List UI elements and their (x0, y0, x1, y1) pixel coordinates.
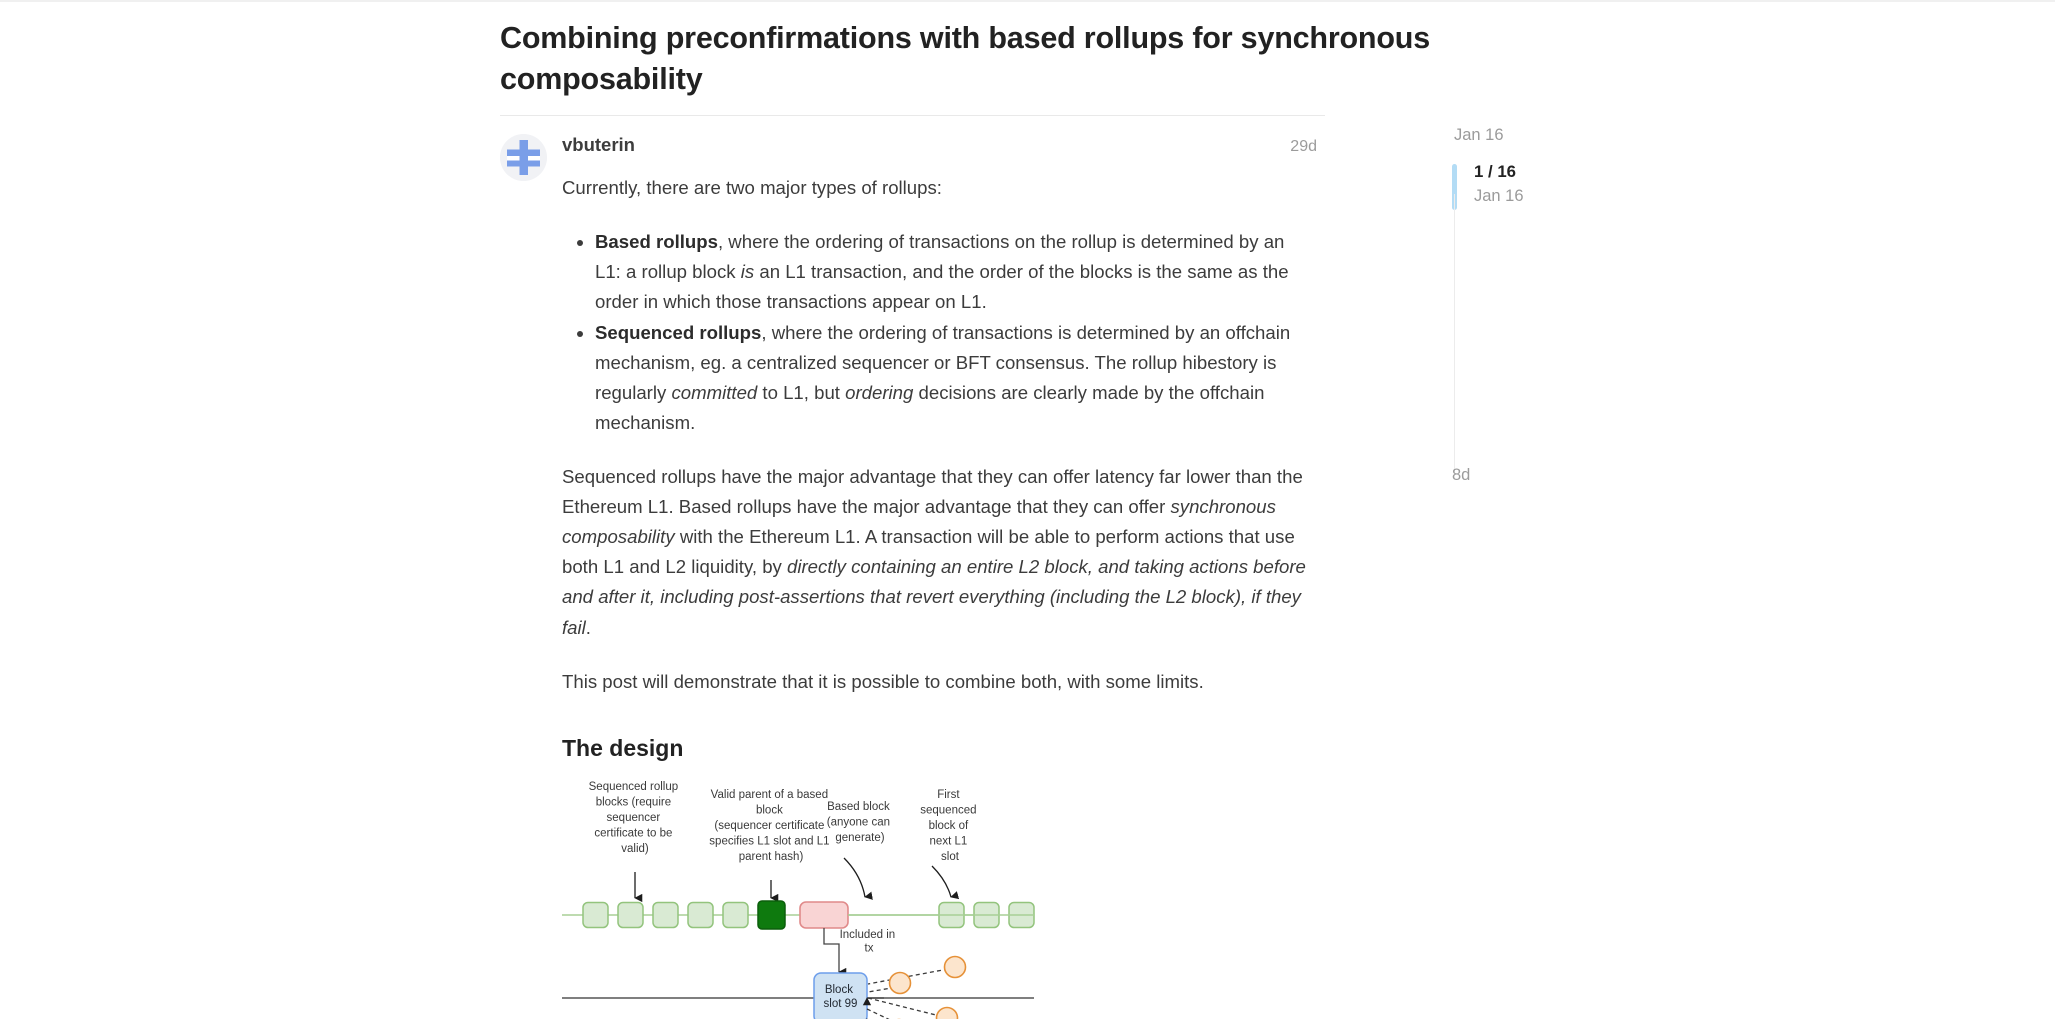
bullet-emphasis: committed (671, 382, 757, 403)
timeline-post-count: 1 / 16 (1474, 162, 1622, 182)
paragraph-text: . (586, 617, 591, 638)
diagram-arrow-included-in-tx (824, 928, 839, 972)
chain-block-dark-green[interactable] (758, 901, 785, 929)
diagram-label-based-block: Based block (anyone can generate) (827, 801, 894, 844)
diagram-arrow-based-block (844, 858, 865, 897)
timeline-current[interactable]: 1 / 16 Jan 16 (1452, 162, 1622, 206)
post: vbuterin 29d Currently, there are two ma… (500, 116, 1330, 1019)
bullet-emphasis: is (741, 261, 754, 282)
avatar[interactable] (500, 134, 547, 181)
post-timestamp[interactable]: 29d (1290, 138, 1317, 156)
chain-block-light-green[interactable] (618, 902, 643, 927)
diagram-arrow-first-sequenced (932, 866, 951, 897)
diagram-label-valid-parent: Valid parent of a based block (sequencer… (709, 789, 832, 863)
list-item: Sequenced rollups, where the ordering of… (595, 318, 1292, 438)
topic-timeline[interactable]: Jan 16 1 / 16 Jan 16 8d (1452, 126, 1622, 521)
intro-paragraph: Currently, there are two major types of … (562, 173, 1307, 203)
timeline-current-date: Jan 16 (1474, 187, 1622, 206)
bullet-lead: Based rollups (595, 231, 718, 252)
chain-block-light-green[interactable] (583, 902, 608, 927)
page-title: Combining preconfirmations with based ro… (500, 18, 1445, 99)
paragraph-advantages: Sequenced rollups have the major advanta… (562, 462, 1322, 643)
rollup-types-list: Based rollups, where the ordering of tra… (562, 227, 1292, 438)
attestation-circle[interactable] (937, 1007, 958, 1019)
post-meta: vbuterin 29d (562, 134, 1317, 156)
list-item: Based rollups, where the ordering of tra… (595, 227, 1292, 317)
topic-page: Combining preconfirmations with based ro… (0, 0, 2055, 1019)
diagram-block-slot-box[interactable] (814, 973, 867, 1019)
section-heading-the-design: The design (562, 735, 1330, 762)
diagram-label-sequenced-rollup-blocks: Sequenced rollup blocks (require sequenc… (589, 781, 682, 855)
timeline-bottom-date: 8d (1452, 466, 1470, 485)
timeline-top-date: Jan 16 (1452, 126, 1622, 145)
diagram-label-first-sequenced: First sequenced block of next L1 slot (920, 789, 979, 863)
diagram-attestations (889, 956, 966, 1019)
paragraph-conclusion: This post will demonstrate that it is po… (562, 667, 1307, 697)
bullet-text: to L1, but (757, 382, 845, 403)
chain-block-light-green[interactable] (653, 902, 678, 927)
chain-block-light-green[interactable] (723, 902, 748, 927)
post-body: vbuterin 29d Currently, there are two ma… (562, 134, 1330, 1019)
attestation-circle[interactable] (945, 956, 966, 977)
chain-block-light-green[interactable] (688, 902, 713, 927)
topic-column: Combining preconfirmations with based ro… (500, 18, 1330, 1019)
design-diagram: Sequenced rollup blocks (require sequenc… (562, 776, 1142, 1019)
timeline-track[interactable] (1454, 194, 1456, 472)
diagram-label-included-in-tx: Included in tx (840, 929, 899, 955)
chain-block-pink-based[interactable] (800, 902, 848, 928)
bullet-lead: Sequenced rollups (595, 322, 761, 343)
attestation-circle[interactable] (890, 972, 911, 993)
post-author[interactable]: vbuterin (562, 134, 635, 156)
bullet-emphasis: ordering (845, 382, 913, 403)
